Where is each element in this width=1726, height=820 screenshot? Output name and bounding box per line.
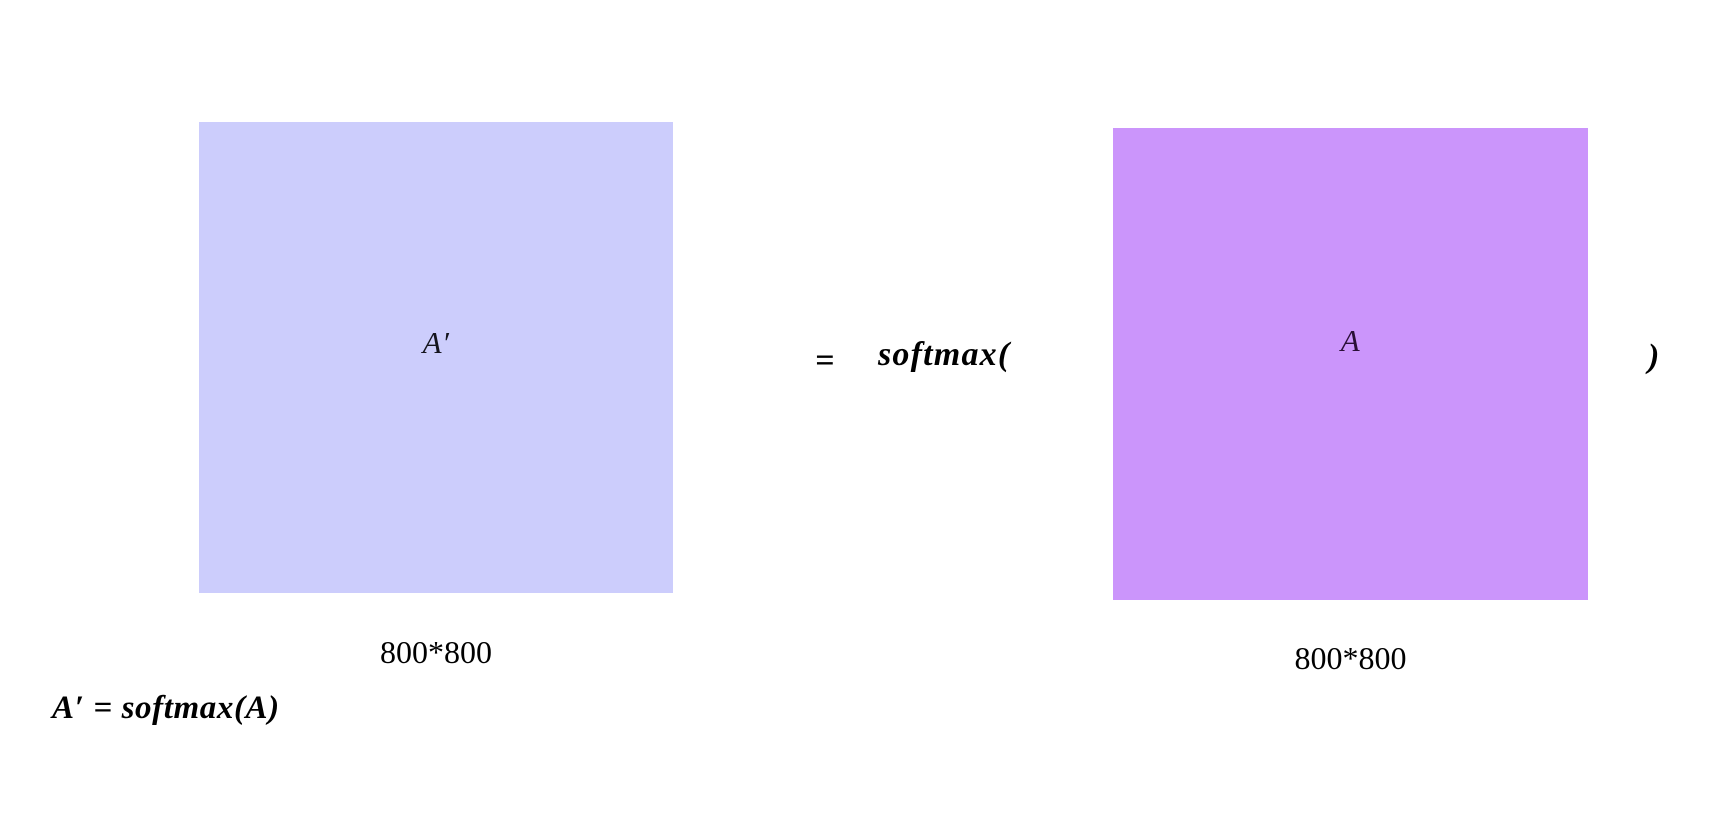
shape-caption-a: 800*800 [1113,642,1588,674]
formula-text: A′ = softmax(A) [52,692,280,725]
matrix-label-a-prime: A′ [199,327,673,358]
matrix-block-a: A [1113,128,1588,600]
equals-sign: = [815,344,834,378]
softmax-open-paren-text: softmax( [878,338,1010,372]
matrix-label-a: A [1113,325,1588,356]
shape-caption-a-prime: 800*800 [199,636,673,668]
softmax-close-paren-text: ) [1648,340,1659,374]
matrix-block-a-prime: A′ [199,122,673,593]
diagram-canvas: A′ 800*800 = softmax( A 800*800 ) A′ = s… [0,0,1726,820]
